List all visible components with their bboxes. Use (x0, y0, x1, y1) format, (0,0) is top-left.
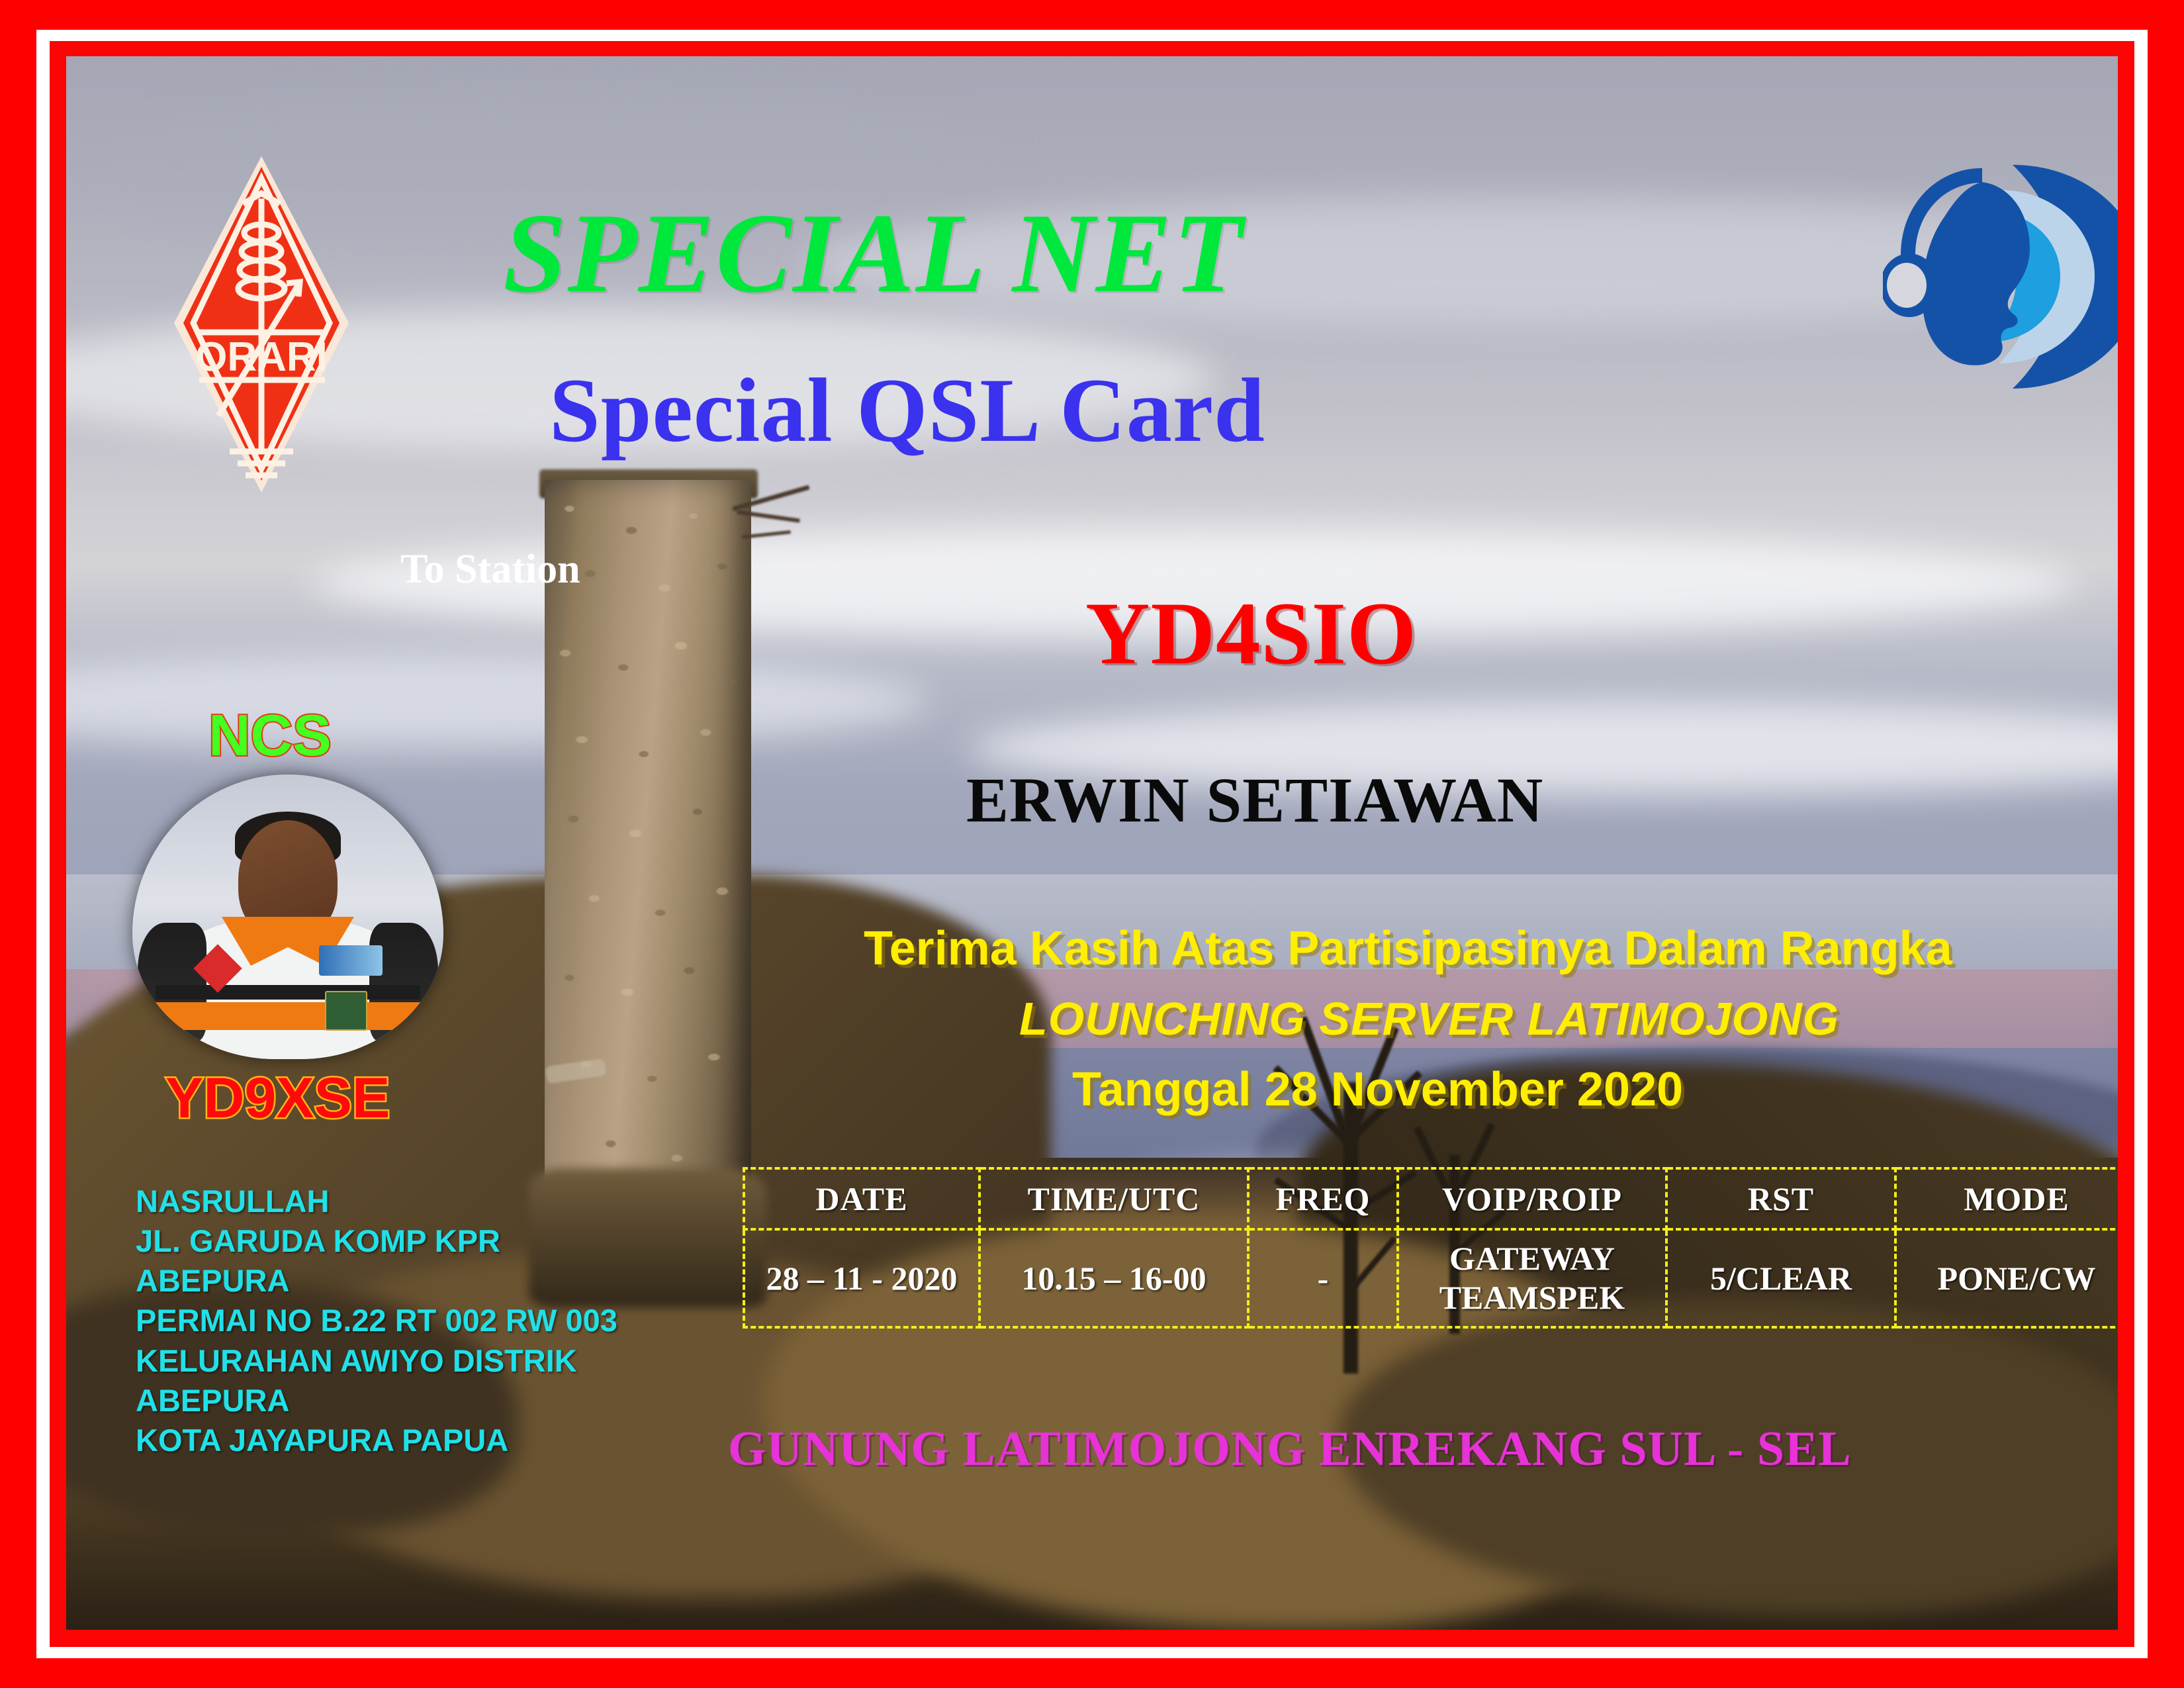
table-header-row: DATE TIME/UTC FREQ VOIP/ROIP RST MODE (744, 1168, 2118, 1229)
voip-head-headset-logo (1883, 156, 2118, 397)
cell-time: 10.15 – 16-00 (979, 1229, 1248, 1327)
cell-mode: PONE/CW (1895, 1229, 2118, 1327)
column-header-time: TIME/UTC (979, 1168, 1248, 1229)
location-name: GUNUNG LATIMOJONG ENREKANG SUL - SEL (728, 1421, 1852, 1477)
event-name: LOUNCHING SERVER LATIMOJONG (1019, 992, 1839, 1045)
sender-address-block: NASRULLAH JL. GARUDA KOMP KPR ABEPURA PE… (136, 1182, 705, 1460)
qsl-card: ORARI (0, 0, 2184, 1688)
cell-freq: - (1248, 1229, 1398, 1327)
to-station-label: To Station (400, 546, 580, 593)
column-header-date: DATE (744, 1168, 979, 1229)
address-line: KOTA JAYAPURA PAPUA (136, 1421, 705, 1460)
cell-date: 28 – 11 - 2020 (744, 1229, 979, 1327)
portrait-stripe-dark (156, 985, 420, 1000)
operator-name: ERWIN SETIAWAN (966, 763, 1543, 837)
portrait-badge (319, 945, 383, 976)
table-row: 28 – 11 - 2020 10.15 – 16-00 - GATEWAY T… (744, 1229, 2118, 1327)
column-header-freq: FREQ (1248, 1168, 1398, 1229)
background-photograph: ORARI (66, 56, 2118, 1630)
address-line: ABEPURA (136, 1381, 705, 1421)
address-line: JL. GARUDA KOMP KPR (136, 1221, 705, 1261)
column-header-mode: MODE (1895, 1168, 2118, 1229)
ncs-operator-photo (132, 774, 443, 1059)
address-line: ABEPURA (136, 1261, 705, 1301)
cell-voip-line2: TEAMSPEK (1400, 1278, 1664, 1317)
station-callsign: YD4SIO (1085, 583, 1417, 685)
orari-logo: ORARI (169, 152, 354, 496)
cell-voip-line1: GATEWAY (1400, 1239, 1664, 1278)
page-subtitle: Special QSL Card (549, 357, 1265, 463)
column-header-rst: RST (1666, 1168, 1895, 1229)
cell-voip-roip: GATEWAY TEAMSPEK (1398, 1229, 1666, 1327)
cell-rst: 5/CLEAR (1666, 1229, 1895, 1327)
ncs-label: NCS (208, 702, 332, 769)
page-title: SPECIAL NET (503, 189, 1244, 319)
column-header-voip-roip: VOIP/ROIP (1398, 1168, 1666, 1229)
event-date: Tanggal 28 November 2020 (1072, 1062, 1683, 1117)
portrait-id-card (325, 991, 367, 1031)
thanks-message: Terima Kasih Atas Partisipasinya Dalam R… (864, 921, 1952, 976)
address-line: PERMAI NO B.22 RT 002 RW 003 (136, 1301, 705, 1340)
stone-pillar-monument (533, 480, 764, 1301)
address-line: KELURAHAN AWIYO DISTRIK (136, 1341, 705, 1381)
address-line: NASRULLAH (136, 1182, 705, 1221)
ncs-callsign: YD9XSE (165, 1066, 390, 1131)
portrait-stripe-orange (156, 1002, 420, 1030)
svg-text:ORARI: ORARI (195, 334, 328, 380)
qso-log-table: DATE TIME/UTC FREQ VOIP/ROIP RST MODE 28… (743, 1167, 2118, 1329)
